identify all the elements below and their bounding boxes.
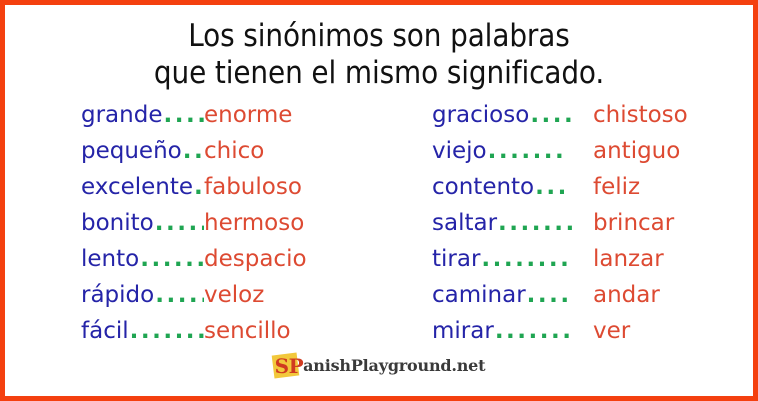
- synonym-pair: viejo ....... antiguo: [432, 133, 753, 169]
- word-term: mirar: [432, 313, 494, 349]
- logo-initials: SP: [273, 354, 303, 378]
- poster-frame: Los sinónimos son palabras que tienen el…: [0, 0, 758, 401]
- word-term: contento: [432, 169, 534, 205]
- title-line-1: Los sinónimos son palabras: [5, 18, 753, 55]
- word-synonym: fabuloso: [204, 169, 379, 205]
- synonym-column-left: grande ...... enorme pequeño .... chico …: [5, 97, 379, 349]
- dot-leader: ...: [534, 169, 593, 205]
- synonym-pair: grande ...... enorme: [81, 97, 379, 133]
- synonym-pair: mirar ....... ver: [432, 313, 753, 349]
- word-synonym: enorme: [204, 97, 379, 133]
- synonym-pair: caminar .... andar: [432, 277, 753, 313]
- word-term: grande: [81, 97, 162, 133]
- synonym-pair: contento ... feliz: [432, 169, 753, 205]
- dot-leader: .......: [154, 277, 204, 313]
- synonym-pair: gracioso .... chistoso: [432, 97, 753, 133]
- word-synonym: chico: [204, 133, 379, 169]
- dot-leader: .......: [487, 133, 593, 169]
- page-title: Los sinónimos son palabras que tienen el…: [5, 5, 753, 91]
- dot-leader: ........: [480, 241, 593, 277]
- dot-leader: .........: [129, 313, 204, 349]
- dot-leader: .......: [497, 205, 593, 241]
- dot-leader: .......: [494, 313, 593, 349]
- synonym-pair: tirar ........ lanzar: [432, 241, 753, 277]
- word-term: excelente: [81, 169, 193, 205]
- word-term: pequeño: [81, 133, 182, 169]
- synonym-pair: bonito ....... hermoso: [81, 205, 379, 241]
- dot-leader: .......: [154, 205, 204, 241]
- word-synonym: hermoso: [204, 205, 379, 241]
- word-synonym: veloz: [204, 277, 379, 313]
- word-term: gracioso: [432, 97, 529, 133]
- word-term: caminar: [432, 277, 526, 313]
- word-synonym: andar: [593, 277, 753, 313]
- synonym-pair: fácil ......... sencillo: [81, 313, 379, 349]
- word-term: bonito: [81, 205, 154, 241]
- word-term: saltar: [432, 205, 497, 241]
- site-name: anishPlayground.net: [303, 356, 485, 376]
- word-synonym: lanzar: [593, 241, 753, 277]
- word-term: fácil: [81, 313, 129, 349]
- synonym-pair: saltar ....... brincar: [432, 205, 753, 241]
- word-synonym: ver: [593, 313, 753, 349]
- dot-leader: ....: [193, 169, 204, 205]
- word-synonym: brincar: [593, 205, 753, 241]
- dot-leader: .........: [139, 241, 204, 277]
- word-term: viejo: [432, 133, 487, 169]
- synonym-pair: pequeño .... chico: [81, 133, 379, 169]
- word-synonym: sencillo: [204, 313, 379, 349]
- word-synonym: chistoso: [593, 97, 753, 133]
- synonym-pair: lento ......... despacio: [81, 241, 379, 277]
- word-term: rápido: [81, 277, 154, 313]
- word-term: lento: [81, 241, 139, 277]
- site-watermark: SP anishPlayground.net: [5, 353, 753, 379]
- synonym-pair: rápido ....... veloz: [81, 277, 379, 313]
- logo-lockup: SP anishPlayground.net: [273, 353, 486, 379]
- title-line-2: que tienen el mismo significado.: [5, 55, 753, 92]
- word-synonym: feliz: [593, 169, 753, 205]
- dot-leader: ......: [162, 97, 204, 133]
- synonym-column-right: gracioso .... chistoso viejo ....... ant…: [379, 97, 753, 349]
- synonym-pair: excelente .... fabuloso: [81, 169, 379, 205]
- dot-leader: ....: [529, 97, 593, 133]
- dot-leader: ....: [526, 277, 593, 313]
- word-synonym: despacio: [204, 241, 379, 277]
- synonym-columns: grande ...... enorme pequeño .... chico …: [5, 97, 753, 349]
- dot-leader: ....: [182, 133, 204, 169]
- word-synonym: antiguo: [593, 133, 753, 169]
- word-term: tirar: [432, 241, 480, 277]
